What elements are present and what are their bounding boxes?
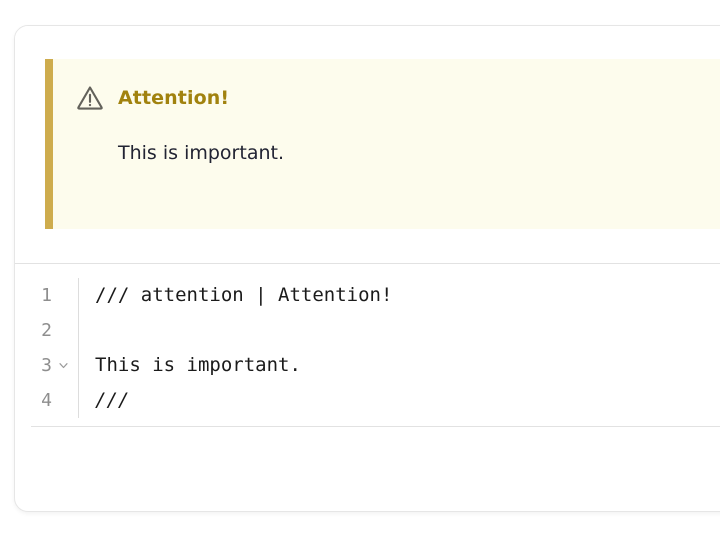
chevron-down-icon[interactable] xyxy=(58,360,69,371)
code-lines[interactable]: /// attention | Attention! This is impor… xyxy=(79,278,720,418)
code-area[interactable]: 1 2 3 4 xyxy=(15,278,720,418)
attention-callout: Attention! This is important. xyxy=(45,59,720,229)
code-line[interactable]: This is important. xyxy=(95,348,720,383)
preview-card: Attention! This is important. 1 2 3 xyxy=(14,25,720,512)
code-line[interactable]: /// xyxy=(95,383,720,418)
line-number: 3 xyxy=(41,348,52,383)
source-editor-pane: 1 2 3 4 xyxy=(15,264,720,484)
line-number: 1 xyxy=(41,278,52,313)
gutter-row: 4 xyxy=(15,383,78,418)
line-number: 4 xyxy=(41,383,52,418)
fold-slot xyxy=(56,289,70,303)
gutter-row: 1 xyxy=(15,278,78,313)
fold-slot[interactable] xyxy=(56,359,70,373)
callout-body-text: This is important. xyxy=(53,141,720,166)
gutter-row: 3 xyxy=(15,348,78,383)
code-line[interactable] xyxy=(95,313,720,348)
code-line[interactable]: /// attention | Attention! xyxy=(95,278,720,313)
gutter-row: 2 xyxy=(15,313,78,348)
callout-header: Attention! xyxy=(53,83,720,113)
fold-slot xyxy=(56,394,70,408)
line-number-gutter[interactable]: 1 2 3 4 xyxy=(15,278,79,418)
line-number: 2 xyxy=(41,313,52,348)
rendered-preview-pane: Attention! This is important. xyxy=(15,26,720,263)
warning-triangle-icon xyxy=(75,83,105,113)
callout-title: Attention! xyxy=(118,89,229,108)
editor-footer xyxy=(15,427,720,475)
fold-slot xyxy=(56,324,70,338)
